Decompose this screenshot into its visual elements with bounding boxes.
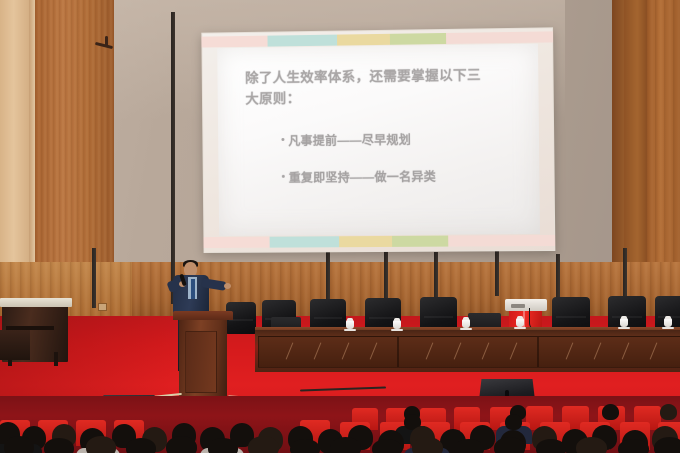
audience-head (126, 438, 156, 453)
teacup (620, 318, 628, 327)
band-segment-yellow (339, 236, 392, 247)
slide-band-bottom (203, 235, 555, 248)
band-segment-yellow (337, 34, 390, 46)
list-item: 凡事提前——尽早规划 (281, 129, 520, 149)
audience-head (290, 439, 320, 453)
teacup (462, 319, 470, 328)
band-segment-green (390, 33, 447, 45)
podium (176, 311, 230, 406)
audience-head (536, 439, 566, 453)
audience-head (660, 404, 677, 420)
presenter (160, 262, 240, 318)
slide-bullet-2-text: 重复即坚持——做一名异类 (289, 169, 436, 184)
audience-head (372, 439, 402, 453)
wall-panel-left-light (0, 0, 30, 300)
band-segment-pink-2 (449, 235, 556, 247)
audience-head (494, 437, 525, 453)
presenter-right-hand (224, 283, 231, 289)
audience-head (44, 438, 74, 453)
band-segment-pink-2 (446, 31, 553, 44)
audience-head (4, 436, 34, 453)
podium-front-panel (185, 331, 217, 393)
screen-support-post-left (171, 12, 175, 304)
band-segment-green (392, 236, 449, 247)
projection-screen: 除了人生效率体系，还需要掌握以下三大原则： 凡事提前——尽早规划 重复即坚持——… (201, 27, 555, 253)
auditorium-scene: 除了人生效率体系，还需要掌握以下三大原则： 凡事提前——尽早规划 重复即坚持——… (0, 0, 680, 453)
audience-head (505, 414, 522, 430)
audience-head (330, 437, 361, 453)
audience-head (166, 436, 197, 453)
band-segment-pink (201, 36, 267, 48)
slide-heading: 除了人生效率体系，还需要掌握以下三大原则： (245, 65, 485, 111)
audience-area (0, 396, 680, 453)
audience-head (618, 439, 649, 453)
projector-lens-icon (511, 304, 525, 308)
piano-leg (54, 352, 58, 366)
teacup (664, 318, 672, 327)
stage-post-1 (92, 248, 96, 308)
wall-panel-right-wood-outer (646, 0, 680, 300)
slide-bullet-1-text: 凡事提前——尽早规划 (288, 132, 411, 147)
audience-head (248, 436, 279, 453)
list-item: 重复即坚持——做一名异类 (282, 166, 521, 185)
table-front-panel (398, 336, 538, 368)
piano-bench (0, 330, 30, 360)
teacup (346, 320, 354, 329)
slide-content: 除了人生效率体系，还需要掌握以下三大原则： 凡事提前——尽早规划 重复即坚持——… (217, 44, 540, 236)
presenter-tie (191, 279, 195, 299)
podium-top (173, 311, 233, 320)
band-segment-teal (267, 35, 337, 47)
slide-text-block: 除了人生效率体系，还需要掌握以下三大原则： 凡事提前——尽早规划 重复即坚持——… (245, 64, 522, 222)
wall-outlet[interactable] (98, 303, 107, 311)
audience-head (86, 436, 116, 453)
band-segment-pink (203, 237, 269, 248)
teacup (393, 320, 401, 329)
table-front-panel (258, 336, 398, 368)
bullet-dot-icon (281, 138, 284, 141)
audience-head (412, 437, 443, 453)
audience-head (602, 404, 619, 420)
door-handle-mount (105, 36, 108, 46)
audience-head (454, 439, 484, 453)
band-segment-teal (269, 236, 339, 247)
piano-lace-cover (0, 298, 72, 307)
audience-head (208, 438, 238, 453)
slide-bullet-list: 凡事提前——尽早规划 重复即坚持——做一名异类 (281, 129, 521, 185)
audience-head (576, 437, 607, 453)
bullet-dot-icon (282, 174, 285, 177)
table-front-panel (538, 336, 680, 368)
stage-post-5 (495, 250, 499, 296)
teacup (516, 318, 524, 327)
audience-head (654, 437, 680, 453)
